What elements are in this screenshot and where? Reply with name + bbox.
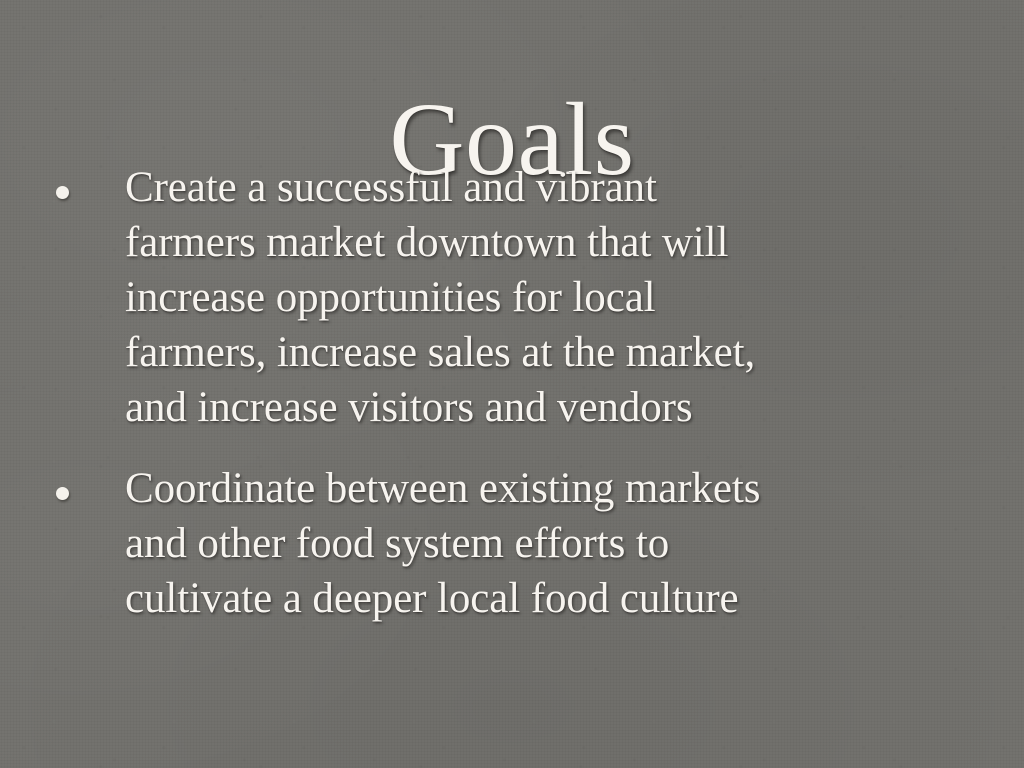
bullet-text: Coordinate between existing markets and … — [125, 461, 948, 626]
bullet-list: Create a successful and vibrant farmers … — [48, 160, 948, 626]
bullet-text: Create a successful and vibrant farmers … — [125, 160, 948, 435]
filled-circle-bullet-icon — [56, 487, 69, 500]
presentation-slide: Goals Create a successful and vibrant fa… — [0, 0, 1024, 768]
list-item: Create a successful and vibrant farmers … — [48, 160, 948, 435]
list-item: Coordinate between existing markets and … — [48, 461, 948, 626]
filled-circle-bullet-icon — [56, 186, 69, 199]
